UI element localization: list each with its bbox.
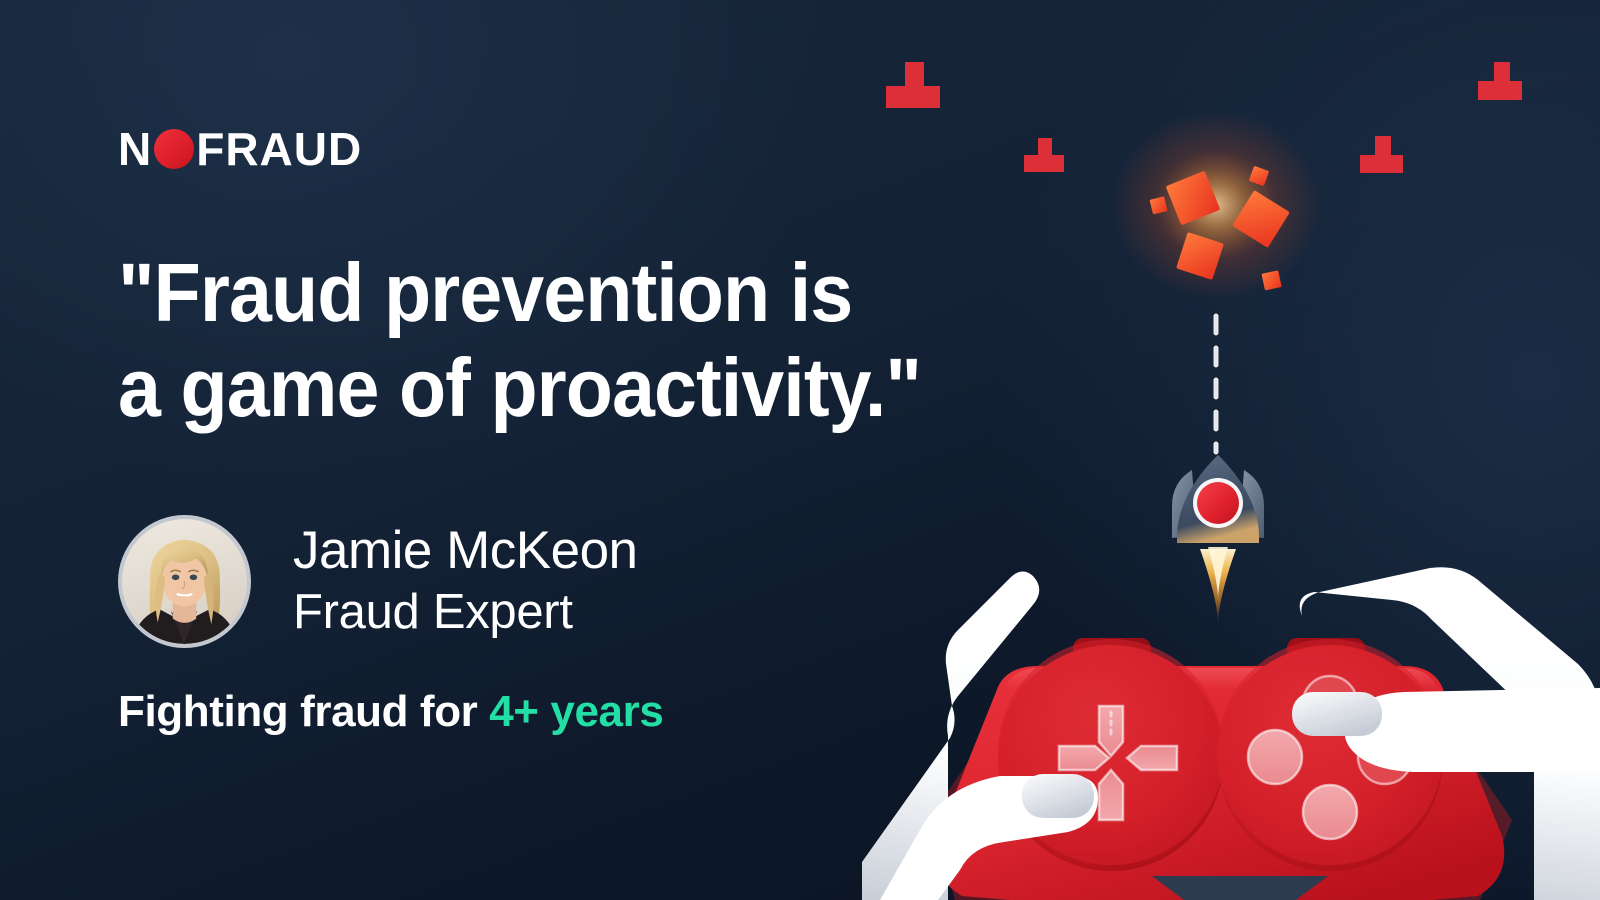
pixel-invader-4 [1478,62,1522,100]
logo-prefix: N [118,126,152,172]
promo-graphic: N FRAUD "Fraud prevention is a game of p… [0,0,1600,900]
game-controller [930,638,1512,900]
logo-suffix: FRAUD [196,126,362,172]
nofraud-logo[interactable]: N FRAUD [118,126,362,172]
quote-line-1: "Fraud prevention is [118,245,955,340]
explosion-shards [1150,166,1290,291]
person-role: Fraud Expert [293,583,638,642]
avatar [118,515,251,648]
quote-line-2: a game of proactivity." [118,340,955,435]
attribution-block: Jamie McKeon Fraud Expert [118,515,638,648]
person-name: Jamie McKeon [293,521,638,580]
pixel-invader-2 [1024,138,1064,172]
dpad [1059,706,1177,820]
tagline-highlight: 4+ years [489,687,663,736]
pixel-invader-1 [886,62,940,108]
right-hand [1292,567,1600,900]
face-buttons [1248,676,1412,839]
rocket-ship [1172,455,1264,625]
tagline: Fighting fraud for 4+ years [118,687,663,737]
tagline-prefix: Fighting fraud for [118,687,489,736]
red-circle-dot-icon [154,129,194,169]
left-hand [862,571,1098,900]
quote-text: "Fraud prevention is a game of proactivi… [118,245,955,436]
pixel-invader-3 [1360,136,1403,173]
